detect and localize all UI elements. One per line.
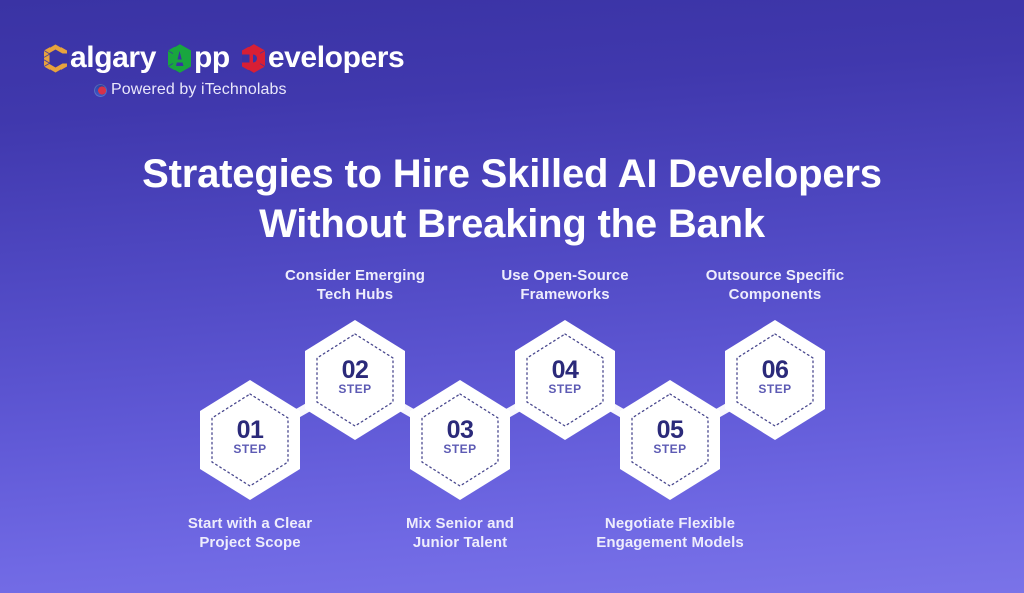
caption-line: Tech Hubs (240, 285, 470, 304)
step-hexagon-05[interactable]: 05STEP (616, 378, 724, 502)
brand-word-developers: evelopers (268, 38, 404, 78)
caption-line: Frameworks (450, 285, 680, 304)
step-number: 03 (406, 416, 514, 444)
step-caption-02: Consider EmergingTech Hubs (240, 266, 470, 304)
caption-line: Mix Senior and (345, 514, 575, 533)
hex-letter-c-icon (42, 43, 69, 74)
step-label: STEP (511, 382, 619, 396)
caption-line: Engagement Models (555, 533, 785, 552)
infographic-canvas: algary pp (0, 0, 1024, 593)
step-hexagon-06[interactable]: 06STEP (721, 318, 829, 442)
page-title-line1: Strategies to Hire Skilled AI Developers (142, 152, 882, 196)
step-label: STEP (721, 382, 829, 396)
itechnolabs-circle-icon (94, 84, 107, 97)
page-title: Strategies to Hire Skilled AI Developers… (0, 149, 1024, 249)
step-hexagon-04[interactable]: 04STEP (511, 318, 619, 442)
brand-word-app: pp (194, 38, 230, 78)
page-title-line2: Without Breaking the Bank (0, 199, 1024, 249)
step-label: STEP (301, 382, 409, 396)
brand-tagline-text: Powered by iTechnolabs (111, 80, 287, 100)
step-caption-01: Start with a ClearProject Scope (135, 514, 365, 552)
step-caption-05: Negotiate FlexibleEngagement Models (555, 514, 785, 552)
caption-line: Start with a Clear (135, 514, 365, 533)
caption-line: Components (660, 285, 890, 304)
step-hexagon-02[interactable]: 02STEP (301, 318, 409, 442)
caption-line: Junior Talent (345, 533, 575, 552)
step-label: STEP (406, 442, 514, 456)
caption-line: Project Scope (135, 533, 365, 552)
brand-word-calgary: algary (70, 38, 156, 78)
step-label: STEP (196, 442, 304, 456)
step-caption-03: Mix Senior andJunior Talent (345, 514, 575, 552)
caption-line: Outsource Specific (660, 266, 890, 285)
step-hexagon-01[interactable]: 01STEP (196, 378, 304, 502)
caption-line: Consider Emerging (240, 266, 470, 285)
step-label: STEP (616, 442, 724, 456)
step-number: 06 (721, 356, 829, 384)
step-number: 01 (196, 416, 304, 444)
brand-tagline: Powered by iTechnolabs (94, 80, 382, 100)
caption-line: Negotiate Flexible (555, 514, 785, 533)
hex-letter-d-icon (240, 43, 267, 74)
step-number: 05 (616, 416, 724, 444)
steps-flow: 01STEPStart with a ClearProject Scope02S… (0, 250, 1024, 550)
step-number: 02 (301, 356, 409, 384)
step-caption-06: Outsource SpecificComponents (660, 266, 890, 304)
brand-name: algary pp (42, 38, 382, 78)
brand-logo: algary pp (42, 38, 382, 100)
hex-letter-a-icon (166, 43, 193, 74)
step-number: 04 (511, 356, 619, 384)
step-caption-04: Use Open-SourceFrameworks (450, 266, 680, 304)
caption-line: Use Open-Source (450, 266, 680, 285)
step-hexagon-03[interactable]: 03STEP (406, 378, 514, 502)
